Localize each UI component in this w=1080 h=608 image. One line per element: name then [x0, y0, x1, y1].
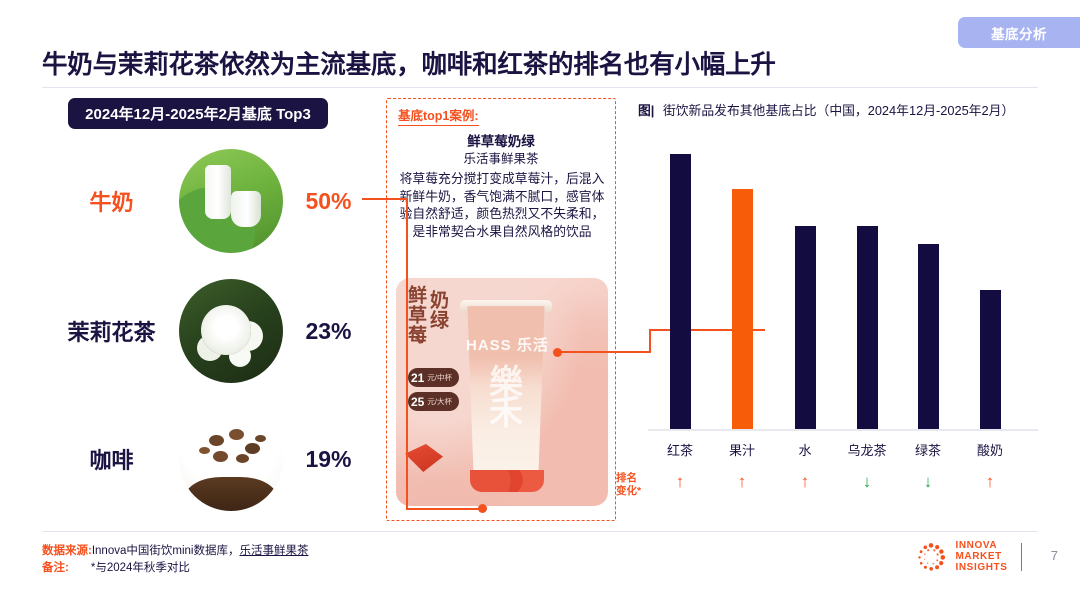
innova-logo-line-3: INSIGHTS: [955, 562, 1007, 573]
logo-divider: [1021, 543, 1023, 571]
rank-change-arrow-3: ↓: [837, 472, 897, 492]
page-number: 7: [1051, 548, 1058, 563]
footer-note-text: *与2024年秋季对比: [91, 562, 190, 574]
footer-source-label: 数据来源:: [42, 545, 92, 557]
case-brand-name: 乐活事鲜果茶: [386, 148, 616, 167]
rank-change-label: 排名变化*: [616, 472, 641, 497]
bar-4: [918, 244, 939, 429]
chart-title-prefix: 图|: [638, 103, 654, 118]
price-large-unit: 元/大杯: [427, 396, 452, 407]
bar-3: [857, 226, 878, 429]
footer-note: 备注:*与2024年秋季对比: [42, 559, 190, 575]
bar-0: [670, 154, 691, 429]
footer-divider: [42, 531, 1038, 532]
top3-percent-2: 23%: [283, 318, 374, 345]
top3-label-2: 茉莉花茶: [44, 315, 179, 347]
connector-right-vertical: [649, 329, 651, 353]
rank-change-arrow-1: ↑: [712, 472, 772, 492]
innova-logo-line-1: INNOVA: [955, 540, 1007, 551]
cup-logo-glyph: 樂禾: [476, 368, 536, 428]
strawberry-pulp: [470, 470, 544, 492]
page-title: 牛奶与茉莉花茶依然为主流基底，咖啡和红茶的排名也有小幅上升: [42, 44, 776, 81]
chart-category-0: 红茶: [650, 440, 710, 459]
chart-category-3: 乌龙茶: [837, 440, 897, 459]
chart-category-4: 绿茶: [898, 440, 958, 459]
chart-baseline: [648, 429, 1038, 431]
rank-change-arrow-5: ↑: [960, 472, 1020, 492]
chart-category-5: 酸奶: [960, 440, 1020, 459]
price-badge-large: 25 元/大杯: [408, 392, 459, 411]
footer-note-label: 备注:: [42, 562, 69, 574]
strawberry-slice-icon: [405, 444, 443, 472]
chart-title: 图| 街饮新品发布其他基底占比（中国，2024年12月-2025年2月）: [638, 100, 1014, 119]
coffee-beans-photo: [179, 407, 283, 511]
case-description: 将草莓充分搅打变成草莓汁，后混入新鲜牛奶，香气饱满不腻口，感官体验自然舒适，颜色…: [396, 170, 608, 240]
product-photo-title-left: 奶绿: [427, 290, 448, 330]
price-medium-unit: 元/中杯: [427, 372, 452, 383]
connector-right-h1: [557, 351, 651, 353]
top3-percent-3: 19%: [283, 446, 374, 473]
price-medium-value: 21: [411, 371, 424, 385]
top3-row-1: 牛奶 50%: [44, 146, 374, 256]
title-divider: [42, 87, 1038, 88]
footer-source: 数据来源:Innova中国街饮mini数据库，乐活事鲜果茶: [42, 542, 308, 558]
rank-change-arrow-2: ↑: [775, 472, 835, 492]
top3-badge-label: 2024年12月-2025年2月基底 Top3: [85, 103, 311, 124]
innova-logo: INNOVA MARKET INSIGHTS: [916, 540, 1022, 573]
bar-5: [980, 290, 1001, 429]
connector-left-bottom: [406, 508, 482, 510]
rank-change-arrow-4: ↓: [898, 472, 958, 492]
top3-row-3: 咖啡 19%: [44, 404, 374, 514]
top3-badge: 2024年12月-2025年2月基底 Top3: [68, 98, 328, 129]
innova-logo-line-2: MARKET: [955, 551, 1007, 562]
footer-source-text: Innova中国街饮mini数据库，: [92, 545, 240, 557]
cup-brand-label: HASS 乐活: [466, 334, 552, 355]
connector-left-horizontal: [362, 198, 408, 200]
connector-left-vertical: [406, 198, 408, 510]
chart-category-2: 水: [775, 440, 835, 459]
rank-change-arrow-0: ↑: [650, 472, 710, 492]
price-badge-medium: 21 元/中杯: [408, 368, 459, 387]
product-photo: 鲜草莓 奶绿 HASS 乐活 樂禾 21 元/中杯 25 元/大杯: [396, 278, 608, 506]
top3-label-3: 咖啡: [44, 443, 179, 475]
innova-logo-mark-icon: [916, 542, 946, 572]
section-tag-label: 基底分析: [991, 23, 1047, 43]
case-study-heading: 基底top1案例:: [398, 105, 479, 126]
chart-title-text: 街饮新品发布其他基底占比（中国，2024年12月-2025年2月）: [663, 103, 1014, 118]
chart-category-1: 果汁: [712, 440, 772, 459]
case-product-name: 鲜草莓奶绿: [386, 130, 616, 150]
section-tag: 基底分析: [958, 17, 1080, 48]
connector-left-dot: [478, 504, 487, 513]
product-photo-title-right: 鲜草莓: [405, 285, 426, 345]
top3-row-2: 茉莉花茶 23%: [44, 276, 374, 386]
milk-bottles-photo: [179, 149, 283, 253]
innova-logo-text: INNOVA MARKET INSIGHTS: [955, 540, 1007, 573]
top3-label-1: 牛奶: [44, 185, 179, 217]
bar-2: [795, 226, 816, 429]
top3-percent-1: 50%: [283, 188, 374, 215]
jasmine-flower-photo: [179, 279, 283, 383]
bar-1: [732, 189, 753, 429]
price-large-value: 25: [411, 395, 424, 409]
footer-source-link[interactable]: 乐活事鲜果茶: [239, 545, 308, 557]
